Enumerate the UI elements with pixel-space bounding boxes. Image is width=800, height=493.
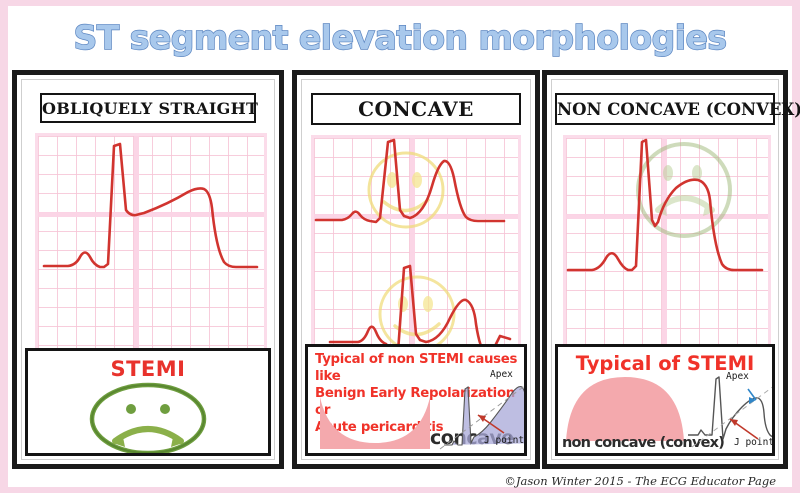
inset-j-point-label: J point [484,435,524,446]
inset-apex-label: Apex [490,369,513,380]
panel-header-concave: CONCAVE [311,93,521,125]
inset-apex-label: Apex [726,371,749,382]
panel-non-concave-convex: NON CONCAVE (CONVEX) Typical of STEMI [542,70,788,469]
convex-shape-pink [564,375,686,441]
page-title: ST segment elevation morphologies [8,14,792,62]
sad-face-green-icon [85,381,211,456]
bottom-box-non-concave: Typical of STEMI non concave (convex) Ap… [555,344,775,456]
poster-canvas: ST segment elevation morphologies OBLIQU… [8,6,792,487]
bottom-box-concave: Typical of non STEMI causes like Benign … [305,344,527,456]
ecg-trace-obliquely-straight [38,136,264,384]
bottom-box-stemi: STEMI [25,348,271,456]
concave-shape-pink [320,397,430,449]
panel-obliquely-straight: OBLIQUELY STRAIGHT STEMI [12,70,284,469]
panel-header-obliquely-straight: OBLIQUELY STRAIGHT [40,93,256,123]
inset-ecg-concave: Apex J point [438,371,527,453]
stemi-label: STEMI [28,357,268,381]
copyright-notice: ©Jason Winter 2015 - The ECG Educator Pa… [504,474,776,488]
inset-j-point-label: J point [734,437,774,448]
smiley-face-yellow-icon [380,277,454,351]
panel-header-non-concave: NON CONCAVE (CONVEX) [555,93,775,125]
inset-ecg-non-concave: Apex J point [686,367,775,453]
panel-concave: CONCAVE [292,70,540,469]
